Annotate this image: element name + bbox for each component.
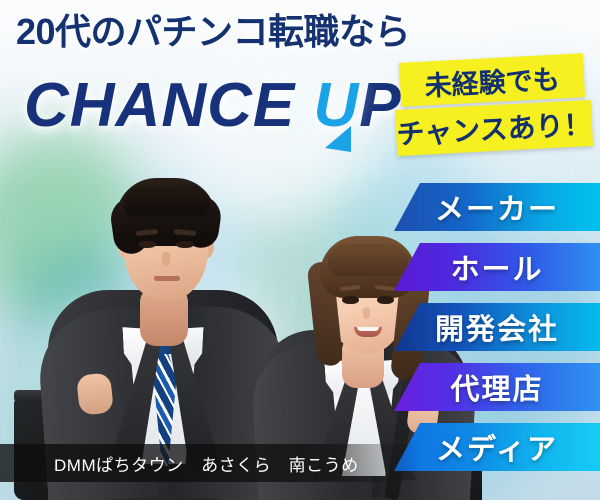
credit-caption-text: DMMぱちタウン あさくら 南こうめ [0, 451, 359, 476]
category-button-development-company[interactable]: 開発会社 [394, 303, 600, 351]
category-button-maker[interactable]: メーカー [394, 183, 600, 231]
category-button-hall[interactable]: ホール [394, 243, 600, 291]
category-button-agency[interactable]: 代理店 [394, 363, 600, 411]
category-label: メーカー [435, 186, 559, 228]
category-label: 代理店 [450, 366, 543, 408]
chance-up-logo: CHANCE UP [24, 64, 424, 148]
badge-label: 未経験でも [424, 57, 561, 103]
category-button-media[interactable]: メディア [394, 423, 600, 471]
advertisement-banner[interactable]: 20代のパチンコ転職なら CHANCE UP 未経験でも チャンスあり！ メーカ… [0, 0, 600, 500]
category-label: 開発会社 [435, 306, 559, 348]
headline-text: 20代のパチンコ転職なら [16, 14, 446, 50]
category-label: ホール [450, 246, 543, 288]
badge-label: チャンスあり！ [395, 103, 592, 153]
logo-text-main: CHANCE [24, 71, 313, 140]
category-label: メディア [436, 426, 558, 468]
logo-text-accent: U [313, 71, 359, 140]
credit-caption-band: DMMぱちタウン あさくら 南こうめ [0, 444, 420, 482]
